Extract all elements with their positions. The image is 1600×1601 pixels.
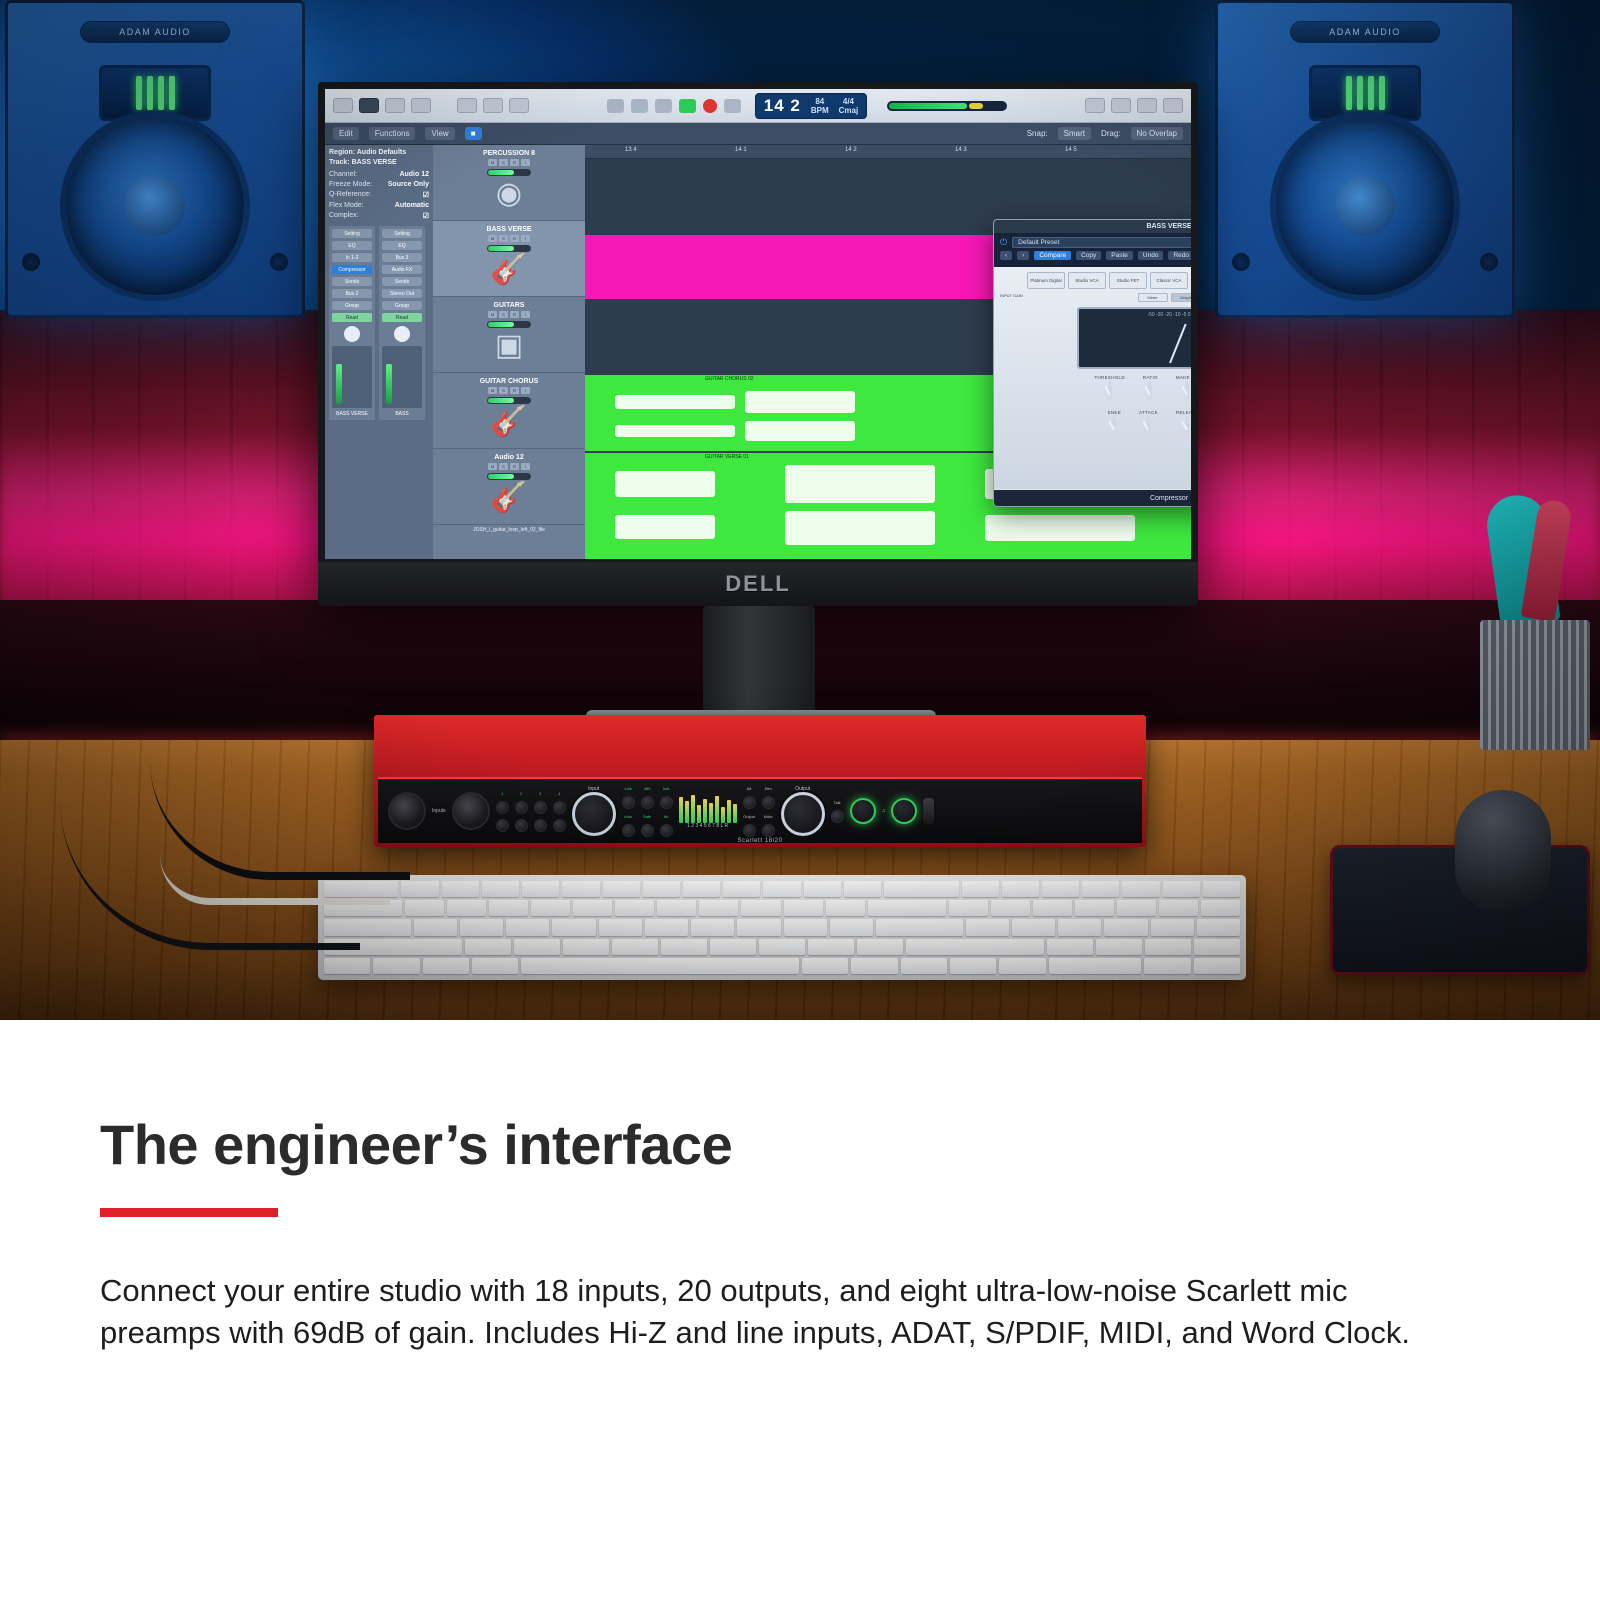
key[interactable]: [1012, 919, 1055, 935]
stop-icon[interactable]: [655, 99, 672, 113]
inspector-label: Q-Reference:: [329, 191, 371, 199]
inspector-value[interactable]: Automatic: [395, 202, 429, 209]
circuit-tab[interactable]: Studio VCA: [1068, 272, 1106, 289]
master-level-meter: [887, 101, 1007, 111]
input-number: 1: [501, 791, 503, 796]
prev-preset-button[interactable]: ‹: [1000, 251, 1012, 260]
monitor-output-knob[interactable]: [781, 792, 825, 836]
transport-controls[interactable]: [607, 99, 741, 113]
key[interactable]: [552, 919, 595, 935]
monitor-brand-logo: DELL: [725, 571, 790, 597]
track-buttons[interactable]: MSRI: [439, 235, 579, 242]
keyboard-row[interactable]: [324, 958, 1240, 974]
alt-output-buttons[interactable]: AltOutput: [743, 786, 756, 837]
mute-button[interactable]: M: [488, 159, 497, 166]
key[interactable]: [991, 900, 1030, 916]
release-knob[interactable]: RELEASE: [1176, 410, 1191, 435]
page-title: The engineer’s interface: [100, 1112, 732, 1177]
strip-sends-slot[interactable]: Sends: [382, 277, 422, 286]
solo-button[interactable]: S: [499, 311, 508, 318]
track-buttons[interactable]: MSRI: [439, 463, 579, 470]
channel-strip[interactable]: Setting EQ In 1-2 Compressor Sends Bus 2…: [329, 226, 375, 420]
key[interactable]: [1117, 900, 1156, 916]
track-header[interactable]: PERCUSSION 8 MSRI ◉: [433, 145, 585, 221]
strip-input-slot[interactable]: In 1-2: [332, 253, 372, 262]
track-volume-slider[interactable]: [487, 321, 531, 328]
plugin-power-icon[interactable]: ⏻: [1000, 237, 1007, 248]
key[interactable]: [401, 881, 438, 897]
monitor-output-control[interactable]: Output: [781, 786, 825, 836]
strip-group-slot[interactable]: Group: [382, 301, 422, 310]
notes-icon[interactable]: [1111, 98, 1131, 113]
gain-reduction-meter: -50 -30 -20 -10 -5 0: [1077, 307, 1192, 369]
key[interactable]: [1151, 919, 1194, 935]
input-monitor-button[interactable]: I: [521, 235, 530, 242]
release-label: RELEASE: [1176, 410, 1191, 415]
key[interactable]: [884, 881, 958, 897]
strip-output-slot[interactable]: Bus 2: [332, 289, 372, 298]
audio-interface-front-panel[interactable]: Inputs 1 2 3 4 Input LinkAuto 48VSafe In…: [378, 777, 1142, 843]
output-knob-label: Output: [781, 786, 825, 792]
inspector-region-header[interactable]: Region: Audio Defaults: [329, 149, 429, 156]
key[interactable]: [612, 939, 658, 955]
key[interactable]: [1145, 939, 1191, 955]
strip-sends-slot[interactable]: Sends: [332, 277, 372, 286]
track-volume-slider[interactable]: [487, 397, 531, 404]
library-icon[interactable]: [333, 98, 353, 113]
talk-label: Talk: [834, 800, 841, 805]
xlr-input-2[interactable]: [452, 792, 490, 830]
key[interactable]: [1082, 881, 1119, 897]
talk-button[interactable]: Talk: [831, 800, 844, 823]
desk-organizer: [1480, 620, 1590, 750]
q-reference-checkbox[interactable]: ☑: [423, 191, 429, 199]
plugin-preset-select[interactable]: Default Preset: [1012, 237, 1191, 248]
port-icon: [1232, 253, 1250, 271]
monitor-screen[interactable]: 14 2 84 BPM 4/4 Cmaj: [325, 89, 1191, 559]
monitor-stand-neck: [703, 606, 815, 718]
key[interactable]: [482, 881, 519, 897]
arrow-key[interactable]: [901, 958, 947, 974]
attack-label: ATTACK: [1139, 410, 1158, 415]
key[interactable]: [830, 919, 873, 935]
key[interactable]: [808, 939, 854, 955]
numpad-key[interactable]: [1144, 958, 1190, 974]
record-enable-button[interactable]: R: [510, 311, 519, 318]
gain-knob-4[interactable]: 4: [553, 791, 566, 832]
tempo-value: 84: [815, 97, 824, 106]
track-volume-slider[interactable]: [487, 169, 531, 176]
woofer-left: [60, 111, 250, 301]
strip-plugin-slot[interactable]: Audio FX: [382, 265, 422, 274]
strip-automation-mode[interactable]: Read: [382, 313, 422, 322]
track-volume-slider[interactable]: [487, 473, 531, 480]
play-icon[interactable]: [679, 99, 696, 113]
rewind-icon[interactable]: [607, 99, 624, 113]
key[interactable]: [723, 881, 760, 897]
gain-knob-3[interactable]: 3: [534, 791, 547, 832]
knee-knob[interactable]: KNEE: [1108, 410, 1121, 435]
space-key[interactable]: [521, 958, 799, 974]
key[interactable]: [868, 900, 946, 916]
phantom-power-button[interactable]: 48VSafe: [641, 786, 654, 837]
strip-group-slot[interactable]: Group: [332, 301, 372, 310]
forward-icon[interactable]: [631, 99, 648, 113]
accent-divider: [100, 1208, 278, 1217]
drag-value[interactable]: No Overlap: [1131, 127, 1183, 140]
daw-menu-functions[interactable]: Functions: [369, 127, 416, 140]
key[interactable]: [1042, 881, 1079, 897]
meter-scale-labels: -50 -30 -20 -10 -5 0: [1147, 312, 1190, 318]
meter-numbers: 1 2 3 4 5 6 7 8 L R: [679, 823, 737, 829]
arrow-key[interactable]: [950, 958, 996, 974]
catch-playhead-toggle[interactable]: ■: [465, 127, 482, 140]
paste-button[interactable]: Paste: [1106, 251, 1133, 260]
record-enable-button[interactable]: R: [510, 159, 519, 166]
track-header[interactable]: GUITARS MSRI ▣: [433, 297, 585, 373]
daw-menu-view[interactable]: View: [425, 127, 454, 140]
input-monitor-button[interactable]: I: [521, 387, 530, 394]
track-buttons[interactable]: MSRI: [439, 159, 579, 166]
key[interactable]: [603, 881, 640, 897]
interface-brand-logo: Scarlett 18i20: [737, 838, 782, 844]
mute-button[interactable]: M: [488, 463, 497, 470]
alt-label: Alt: [747, 786, 752, 791]
key[interactable]: [1203, 881, 1240, 897]
key[interactable]: [1194, 939, 1240, 955]
ratio-knob[interactable]: RATIO: [1143, 375, 1158, 406]
numpad-enter-key[interactable]: [1194, 958, 1240, 974]
keyboard-row[interactable]: [324, 939, 1240, 955]
daw-menu-edit[interactable]: Edit: [333, 127, 359, 140]
snap-value[interactable]: Smart: [1058, 127, 1091, 140]
key[interactable]: [844, 881, 881, 897]
command-key[interactable]: [802, 958, 848, 974]
strip-name: BASS VERSE: [332, 411, 372, 417]
numpad-zero-key[interactable]: [1049, 958, 1142, 974]
strip-automation-mode[interactable]: Read: [332, 313, 372, 322]
circuit-type-tabs[interactable]: Platinum Digital Studio VCA Studio FET C…: [999, 272, 1191, 289]
key[interactable]: [599, 919, 642, 935]
strip-eq-display[interactable]: EQ: [332, 241, 372, 250]
drag-label: Drag:: [1101, 129, 1121, 138]
inspector-channel-strips[interactable]: Setting EQ In 1-2 Compressor Sends Bus 2…: [329, 226, 429, 420]
compressor-knobs-bottom[interactable]: KNEE ATTACK RELEASE AUTO: [999, 410, 1191, 435]
key[interactable]: [522, 881, 559, 897]
key[interactable]: [1058, 919, 1101, 935]
inspector-icon[interactable]: [359, 98, 379, 113]
command-key[interactable]: [472, 958, 518, 974]
solo-button[interactable]: S: [499, 387, 508, 394]
ruler-mark: 14 2: [845, 147, 857, 153]
inspector-label: Channel:: [329, 171, 357, 178]
compressor-knobs-top[interactable]: THRESHOLD RATIO MAKE UP AUTO GAIN: [999, 375, 1191, 406]
loops-icon[interactable]: [1137, 98, 1157, 113]
headphone-1-knob[interactable]: [850, 798, 876, 824]
shift-key[interactable]: [906, 939, 1044, 955]
editors-icon[interactable]: [509, 98, 529, 113]
makeup-label: MAKE UP: [1176, 375, 1191, 380]
key[interactable]: [489, 900, 528, 916]
inspector-value[interactable]: Source Only: [388, 181, 429, 188]
option-key[interactable]: [851, 958, 897, 974]
studio-monitor-right: ADAM AUDIO: [1215, 0, 1515, 318]
keyboard-row[interactable]: [324, 900, 1240, 916]
makeup-knob[interactable]: MAKE UP: [1176, 375, 1191, 406]
record-enable-button[interactable]: R: [510, 463, 519, 470]
daw-main-area[interactable]: Region: Audio Defaults Track: BASS VERSE…: [325, 145, 1191, 559]
key[interactable]: [683, 881, 720, 897]
drum-icon: ◉: [439, 176, 579, 212]
inst-label: Inst: [663, 786, 669, 791]
gain-knob-1[interactable]: 1: [496, 791, 509, 832]
strip-output-slot[interactable]: Stereo Out: [382, 289, 422, 298]
key[interactable]: [643, 881, 680, 897]
mute-button[interactable]: M: [488, 311, 497, 318]
strip-eq-display[interactable]: EQ: [382, 241, 422, 250]
key[interactable]: [447, 900, 486, 916]
inspector-row: Q-Reference:☑: [329, 191, 429, 199]
key[interactable]: [741, 900, 780, 916]
toolbar-icon[interactable]: [411, 98, 431, 113]
gain-knob-2[interactable]: 2: [515, 791, 528, 832]
browser-icon[interactable]: [1163, 98, 1183, 113]
port-icon: [270, 253, 288, 271]
strip-fader[interactable]: [382, 346, 422, 408]
key[interactable]: [460, 919, 503, 935]
key[interactable]: [1047, 939, 1093, 955]
feature-text-section: The engineer’s interface Connect your en…: [0, 1020, 1600, 1601]
quick-help-icon[interactable]: [385, 98, 405, 113]
woofer-right: [1270, 111, 1460, 301]
product-feature-page: ADAM AUDIO ADAM AUDIO: [0, 0, 1600, 1601]
input-gain-control[interactable]: Input: [572, 786, 616, 836]
key[interactable]: [563, 939, 609, 955]
daw-toolbar[interactable]: 14 2 84 BPM 4/4 Cmaj: [325, 89, 1191, 123]
tempo-display: 84 BPM: [811, 97, 829, 115]
key[interactable]: [1096, 939, 1142, 955]
key[interactable]: [414, 919, 457, 935]
solo-button[interactable]: S: [499, 235, 508, 242]
meter-leds: [679, 793, 737, 823]
key[interactable]: [1002, 881, 1039, 897]
key[interactable]: [1163, 881, 1200, 897]
mute-button[interactable]: M: [488, 387, 497, 394]
key[interactable]: [465, 939, 511, 955]
enter-key[interactable]: [876, 919, 963, 935]
studio-monitor-left: ADAM AUDIO: [5, 0, 305, 318]
input-number: 3: [539, 791, 541, 796]
strip-pan-knob[interactable]: [344, 326, 360, 342]
key[interactable]: [562, 881, 599, 897]
strip-plugin-slot[interactable]: Compressor: [332, 265, 372, 274]
link-button[interactable]: LinkAuto: [622, 786, 635, 837]
key[interactable]: [1104, 919, 1147, 935]
track-volume-slider[interactable]: [487, 245, 531, 252]
key[interactable]: [699, 900, 738, 916]
key[interactable]: [1197, 919, 1240, 935]
key[interactable]: [645, 919, 688, 935]
snap-label: Snap:: [1027, 129, 1048, 138]
record-enable-button[interactable]: R: [510, 387, 519, 394]
track-name: GUITAR CHORUS: [439, 378, 579, 385]
compare-button[interactable]: Compare: [1034, 251, 1071, 260]
meter-needle: [1169, 324, 1187, 364]
plugin-body[interactable]: Platinum Digital Studio VCA Studio FET C…: [994, 267, 1191, 489]
key[interactable]: [514, 939, 560, 955]
track-header[interactable]: GUITAR CHORUS MSRI 🎸: [433, 373, 585, 449]
key[interactable]: [763, 881, 800, 897]
inspector-label: Flex Mode:: [329, 202, 364, 209]
solo-button[interactable]: S: [499, 159, 508, 166]
computer-keyboard[interactable]: [318, 875, 1246, 980]
strip-setting-button[interactable]: Setting: [332, 229, 372, 238]
daw-ruler[interactable]: 13 4 14 1 14 2 14 3 14 5: [585, 145, 1191, 159]
keyboard-row[interactable]: [324, 919, 1240, 935]
plugin-header[interactable]: ⏻ Default Preset Side Chain: Internal ‹ …: [994, 233, 1191, 267]
speaker-brand-badge-left: ADAM AUDIO: [80, 21, 230, 43]
key[interactable]: [691, 919, 734, 935]
graph-mode-button[interactable]: Graph: [1171, 293, 1192, 302]
input-monitor-button[interactable]: I: [521, 311, 530, 318]
strip-pan-knob[interactable]: [394, 326, 410, 342]
track-header[interactable]: Audio 12 MSRI 🎸: [433, 449, 585, 525]
key[interactable]: [962, 881, 999, 897]
solo-button[interactable]: S: [499, 463, 508, 470]
input-gain-knob[interactable]: [572, 792, 616, 836]
key[interactable]: [615, 900, 654, 916]
threshold-knob[interactable]: THRESHOLD: [1094, 375, 1124, 406]
tempo-label: BPM: [811, 106, 829, 115]
daw-inspector[interactable]: Region: Audio Defaults Track: BASS VERSE…: [325, 145, 433, 559]
inspector-value[interactable]: Audio 12: [399, 171, 429, 178]
input-monitor-button[interactable]: I: [521, 159, 530, 166]
key[interactable]: [737, 919, 780, 935]
record-enable-button[interactable]: R: [510, 235, 519, 242]
key[interactable]: [661, 939, 707, 955]
acoustic-guitar-icon: 🎸: [439, 480, 579, 516]
cycle-icon[interactable]: [724, 99, 741, 113]
circuit-tab[interactable]: Classic VCA: [1150, 272, 1188, 289]
input-monitor-button[interactable]: I: [521, 463, 530, 470]
meter-mode-button[interactable]: Meter: [1138, 293, 1168, 302]
option-key[interactable]: [423, 958, 469, 974]
strip-input-slot[interactable]: Bus 3: [382, 253, 422, 262]
smart-controls-icon[interactable]: [457, 98, 477, 113]
key[interactable]: [826, 900, 865, 916]
track-buttons[interactable]: MSRI: [439, 387, 579, 394]
daw-application[interactable]: 14 2 84 BPM 4/4 Cmaj: [325, 89, 1191, 559]
key[interactable]: [1033, 900, 1072, 916]
attack-knob[interactable]: ATTACK: [1139, 410, 1158, 435]
computer-mouse[interactable]: [1455, 790, 1551, 910]
level-meters: 1 2 3 4 5 6 7 8 L R: [679, 793, 737, 829]
fn-key[interactable]: [324, 958, 370, 974]
key[interactable]: [442, 881, 479, 897]
region-file-name: JOSH_l_guitar_loop_left_02_file: [433, 525, 585, 535]
auto-label: Auto: [624, 814, 632, 819]
key[interactable]: [506, 919, 549, 935]
ruler-mark: 14 3: [955, 147, 967, 153]
daw-local-menu-bar[interactable]: Edit Functions View ■ Snap: Smart Drag: …: [325, 123, 1191, 145]
track-buttons[interactable]: MSRI: [439, 311, 579, 318]
strip-setting-button[interactable]: Setting: [382, 229, 422, 238]
arrow-key[interactable]: [999, 958, 1045, 974]
redo-button[interactable]: Redo: [1168, 251, 1191, 260]
inst-button[interactable]: InstAir: [660, 786, 673, 837]
power-switch[interactable]: [923, 798, 934, 824]
control-key[interactable]: [373, 958, 419, 974]
port-icon: [22, 253, 40, 271]
feature-description: Connect your entire studio with 18 input…: [100, 1270, 1460, 1354]
key[interactable]: [784, 900, 823, 916]
key[interactable]: [1075, 900, 1114, 916]
key[interactable]: [784, 919, 827, 935]
inspector-track-header[interactable]: Track: BASS VERSE: [329, 159, 429, 166]
acoustic-guitar-icon: 🎸: [439, 404, 579, 440]
key[interactable]: [949, 900, 988, 916]
transport-lcd[interactable]: 14 2 84 BPM 4/4 Cmaj: [755, 93, 867, 119]
key[interactable]: [657, 900, 696, 916]
compressor-plugin-window[interactable]: BASS VERSE ⏻ Default Preset Side Chain: …: [993, 219, 1191, 507]
strip-fader[interactable]: [332, 346, 372, 408]
audio-interface[interactable]: Inputs 1 2 3 4 Input LinkAuto 48VSafe In…: [374, 715, 1146, 847]
track-header[interactable]: BASS VERSE MSRI 🎸: [433, 221, 585, 297]
mixer-icon[interactable]: [483, 98, 503, 113]
key[interactable]: [1122, 881, 1159, 897]
key[interactable]: [804, 881, 841, 897]
undo-button[interactable]: Undo: [1138, 251, 1164, 260]
key[interactable]: [531, 900, 570, 916]
key[interactable]: [405, 900, 444, 916]
inspector-row: Freeze Mode:Source Only: [329, 181, 429, 188]
key[interactable]: [573, 900, 612, 916]
inspector-row: Complex:☑: [329, 212, 429, 220]
input-number: 2: [520, 791, 522, 796]
key[interactable]: [710, 939, 756, 955]
next-preset-button[interactable]: ›: [1017, 251, 1029, 260]
signature-value: 4/4: [843, 97, 854, 106]
key[interactable]: [1159, 900, 1198, 916]
daw-track-headers[interactable]: PERCUSSION 8 MSRI ◉ BASS VERSE MSRI 🎸: [433, 145, 585, 559]
copy-button[interactable]: Copy: [1076, 251, 1101, 260]
hero-photo: ADAM AUDIO ADAM AUDIO: [0, 0, 1600, 1020]
port-icon: [1480, 253, 1498, 271]
headphone-2-knob[interactable]: [891, 798, 917, 824]
key[interactable]: [857, 939, 903, 955]
daw-arrange-area[interactable]: 13 4 14 1 14 2 14 3 14 5 BASS 02 GUITAR …: [585, 145, 1191, 559]
channel-strip[interactable]: Setting EQ Bus 3 Audio FX Sends Stereo O…: [379, 226, 425, 420]
circuit-tab[interactable]: Platinum Digital: [1027, 272, 1065, 289]
list-editors-icon[interactable]: [1085, 98, 1105, 113]
inspector-row: Flex Mode:Automatic: [329, 202, 429, 209]
complex-checkbox[interactable]: ☑: [423, 212, 429, 220]
dim-mute-buttons[interactable]: DimMute: [762, 786, 775, 837]
key[interactable]: [1201, 900, 1240, 916]
computer-monitor: 14 2 84 BPM 4/4 Cmaj: [318, 82, 1198, 602]
white-cable: [160, 855, 390, 905]
inspector-label: Freeze Mode:: [329, 181, 372, 188]
key[interactable]: [966, 919, 1009, 935]
track-name: GUITARS: [439, 302, 579, 309]
track-name: BASS VERSE: [439, 226, 579, 233]
keyboard-row[interactable]: [324, 881, 1240, 897]
strip-name: BASS: [382, 411, 422, 417]
mute-button[interactable]: M: [488, 235, 497, 242]
key[interactable]: [759, 939, 805, 955]
circuit-tab[interactable]: Studio FET: [1109, 272, 1147, 289]
record-icon[interactable]: [703, 99, 717, 113]
